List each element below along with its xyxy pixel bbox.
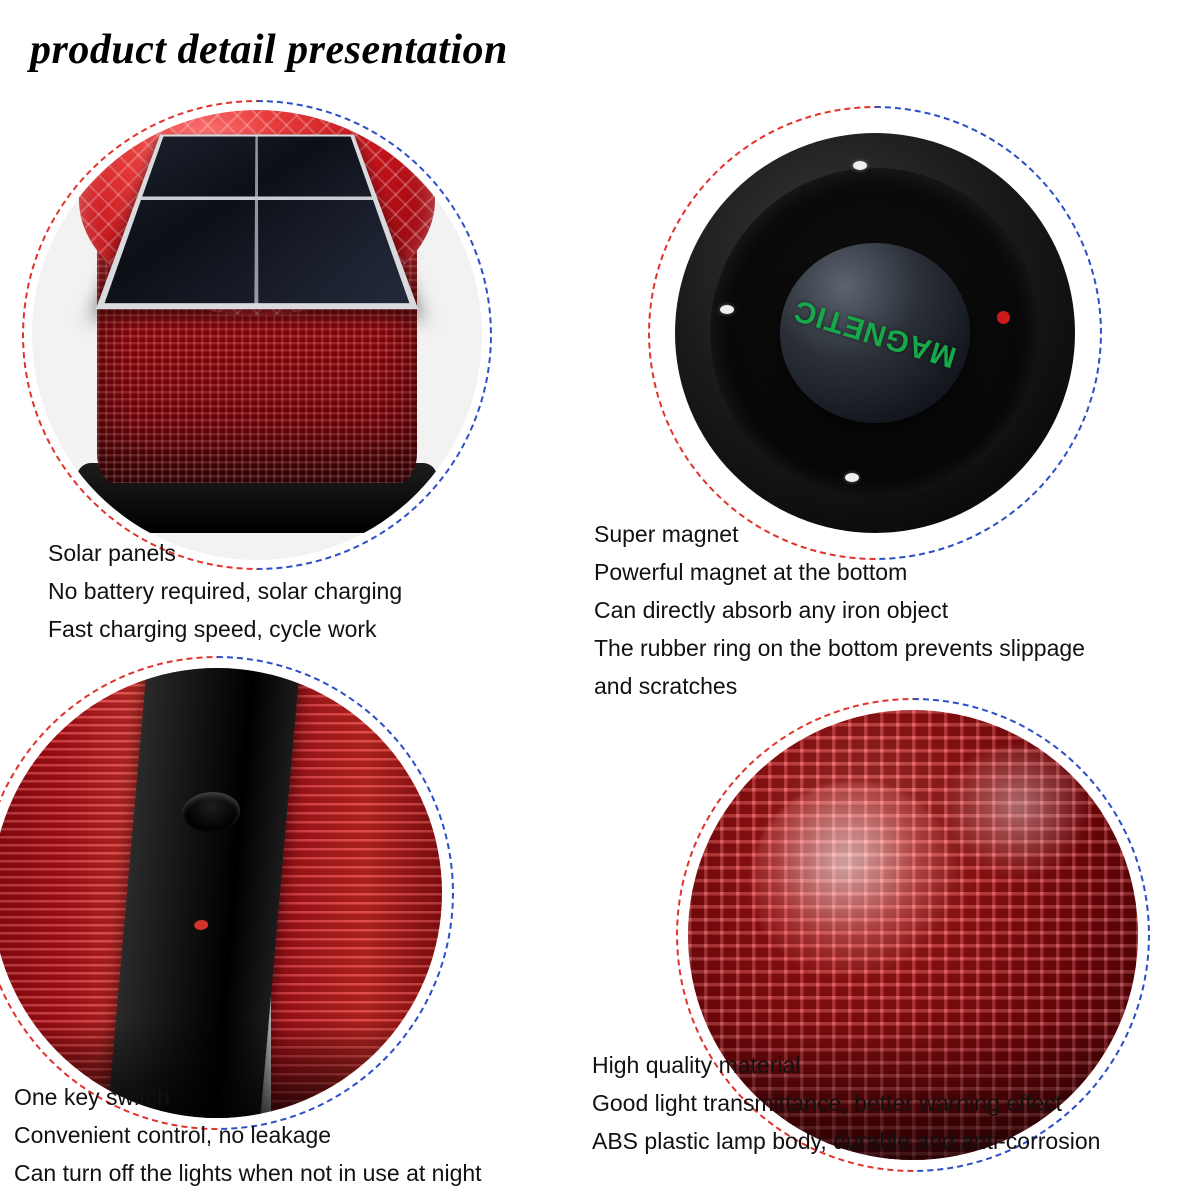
material-caption-line-2: Good light transmittance, better warning… [592,1084,1100,1122]
magnet-caption-line-5: and scratches [594,667,1085,705]
material-caption-line-1: High quality material [592,1046,1100,1084]
one-key-switch-photo [0,668,442,1118]
material-caption: High quality material Good light transmi… [592,1046,1100,1160]
switch-caption: One key switch Convenient control, no le… [14,1078,482,1192]
magnet-image: MAGNETIC [660,118,1090,548]
magnet-photo: MAGNETIC [660,118,1090,548]
screw-bottom [845,473,859,482]
power-button[interactable] [180,792,241,832]
screw-left [720,305,734,314]
switch-caption-line-3: Can turn off the lights when not in use … [14,1154,482,1192]
solar-caption-line-3: Fast charging speed, cycle work [48,610,402,648]
solar-panel-photo [32,110,482,560]
page-title: product detail presentation [30,26,508,74]
magnetic-label: MAGNETIC [790,292,961,374]
magnet-disc: MAGNETIC [780,243,970,423]
red-indicator-dot [997,311,1010,324]
lens-highlight-secondary [940,746,1093,881]
magnet-housing: MAGNETIC [675,133,1075,533]
screw-top [853,161,867,170]
magnet-caption: Super magnet Powerful magnet at the bott… [594,515,1085,705]
switch-caption-line-1: One key switch [14,1078,482,1116]
lens-highlight-primary [751,782,958,980]
magnet-caption-line-2: Powerful magnet at the bottom [594,553,1085,591]
magnet-caption-line-1: Super magnet [594,515,1085,553]
material-caption-line-3: ABS plastic lamp body, durable and anti-… [592,1122,1100,1160]
power-button-led [193,920,208,930]
solar-caption-line-2: No battery required, solar charging [48,572,402,610]
switch-image [0,668,442,1118]
switch-caption-line-2: Convenient control, no leakage [14,1116,482,1154]
magnet-caption-line-4: The rubber ring on the bottom prevents s… [594,629,1085,667]
solar-panel-caption: Solar panels No battery required, solar … [48,534,402,648]
magnet-caption-line-3: Can directly absorb any iron object [594,591,1085,629]
solar-caption-line-1: Solar panels [48,534,402,572]
solar-panel-image [32,110,482,560]
